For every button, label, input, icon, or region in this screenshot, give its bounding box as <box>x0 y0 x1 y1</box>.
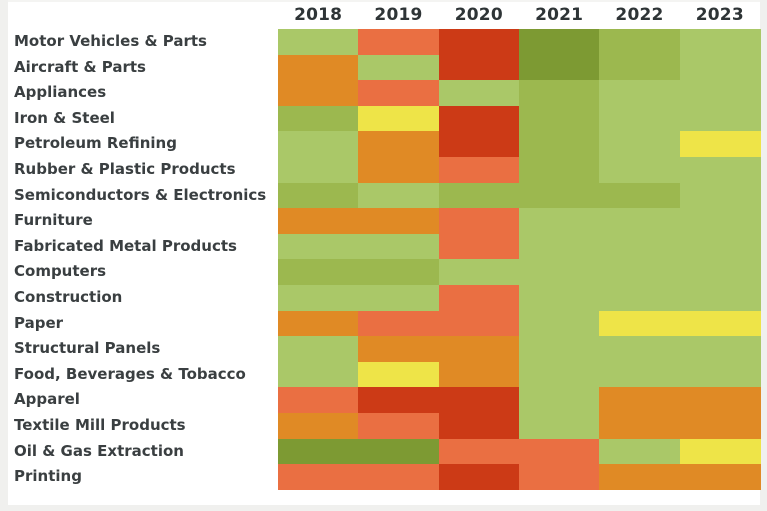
heatmap-cell[interactable] <box>358 464 439 490</box>
heatmap-cell[interactable] <box>278 131 359 157</box>
heatmap-cell[interactable] <box>680 387 761 413</box>
heatmap-cell[interactable] <box>278 183 359 209</box>
column-header-row: 201820192020202120222023 <box>8 2 760 29</box>
heatmap-cell[interactable] <box>278 234 359 260</box>
heatmap-cell[interactable] <box>358 106 439 132</box>
heatmap-cell[interactable] <box>358 387 439 413</box>
row-label: Paper <box>14 311 276 337</box>
heatmap-cell[interactable] <box>680 106 761 132</box>
heatmap-cell[interactable] <box>519 336 600 362</box>
heatmap-cell[interactable] <box>439 362 520 388</box>
row-label: Appliances <box>14 80 276 106</box>
heatmap-cell[interactable] <box>278 464 359 490</box>
heatmap-cell[interactable] <box>439 131 520 157</box>
row-label: Furniture <box>14 208 276 234</box>
heatmap-cell[interactable] <box>680 311 761 337</box>
heatmap-cell[interactable] <box>439 106 520 132</box>
heatmap-cell[interactable] <box>439 336 520 362</box>
heatmap-cell[interactable] <box>358 413 439 439</box>
heatmap-cell[interactable] <box>439 208 520 234</box>
heatmap-cell[interactable] <box>519 106 600 132</box>
column-header-2019: 2019 <box>358 2 438 29</box>
heatmap-cell[interactable] <box>519 80 600 106</box>
heatmap-cell[interactable] <box>358 183 439 209</box>
heatmap-cell[interactable] <box>278 285 359 311</box>
heatmap-cell[interactable] <box>358 131 439 157</box>
heatmap-cell[interactable] <box>680 29 761 55</box>
heatmap-cell[interactable] <box>439 413 520 439</box>
row-label: Motor Vehicles & Parts <box>14 29 276 55</box>
industry-year-heatmap: 201820192020202120222023 Motor Vehicles … <box>8 2 760 505</box>
row-label: Computers <box>14 259 276 285</box>
heatmap-cell[interactable] <box>278 208 359 234</box>
row-label: Construction <box>14 285 276 311</box>
frame-edge-right <box>760 0 767 511</box>
row-label: Aircraft & Parts <box>14 55 276 81</box>
row-label: Apparel <box>14 387 276 413</box>
heatmap-cell[interactable] <box>358 311 439 337</box>
heatmap-cell[interactable] <box>680 80 761 106</box>
heatmap-cell[interactable] <box>599 80 680 106</box>
heatmap-cell[interactable] <box>599 311 680 337</box>
heatmap-cell[interactable] <box>278 336 359 362</box>
column-header-2022: 2022 <box>599 2 679 29</box>
row-label: Printing <box>14 464 276 490</box>
heatmap-cell[interactable] <box>680 131 761 157</box>
row-label-column: Motor Vehicles & PartsAircraft & PartsAp… <box>8 29 278 495</box>
row-label: Semiconductors & Electronics <box>14 183 276 209</box>
heatmap-cell[interactable] <box>439 183 520 209</box>
heatmap-cell[interactable] <box>439 29 520 55</box>
heatmap-cell[interactable] <box>599 285 680 311</box>
heatmap-cell[interactable] <box>439 259 520 285</box>
heatmap-cell[interactable] <box>519 464 600 490</box>
row-label: Iron & Steel <box>14 106 276 132</box>
heatmap-cell[interactable] <box>519 131 600 157</box>
heatmap-page: 201820192020202120222023 Motor Vehicles … <box>0 0 767 511</box>
heatmap-cell[interactable] <box>599 259 680 285</box>
heatmap-cell[interactable] <box>680 439 761 465</box>
heatmap-cell[interactable] <box>680 157 761 183</box>
column-header-2023: 2023 <box>680 2 760 29</box>
heatmap-cell[interactable] <box>439 464 520 490</box>
row-label: Structural Panels <box>14 336 276 362</box>
heatmap-cell[interactable] <box>519 55 600 81</box>
heatmap-cell[interactable] <box>358 29 439 55</box>
heatmap-cell[interactable] <box>680 183 761 209</box>
heatmap-cell[interactable] <box>439 439 520 465</box>
heatmap-cell[interactable] <box>278 80 359 106</box>
heatmap-cell[interactable] <box>358 208 439 234</box>
heatmap-cell[interactable] <box>278 439 359 465</box>
heatmap-cell[interactable] <box>519 29 600 55</box>
heatmap-cell[interactable] <box>599 413 680 439</box>
heatmap-cell[interactable] <box>599 131 680 157</box>
heatmap-cell[interactable] <box>278 362 359 388</box>
heatmap-cell[interactable] <box>680 413 761 439</box>
heatmap-cell[interactable] <box>439 387 520 413</box>
heatmap-cell[interactable] <box>358 259 439 285</box>
heatmap-cell[interactable] <box>519 208 600 234</box>
heatmap-cell[interactable] <box>519 157 600 183</box>
heatmap-cell[interactable] <box>599 55 680 81</box>
heatmap-cell[interactable] <box>519 413 600 439</box>
heatmap-cell[interactable] <box>680 285 761 311</box>
row-label: Textile Mill Products <box>14 413 276 439</box>
heatmap-cell[interactable] <box>358 285 439 311</box>
heatmap-cell[interactable] <box>358 362 439 388</box>
column-header-2021: 2021 <box>519 2 599 29</box>
heatmap-cell[interactable] <box>680 259 761 285</box>
row-label: Fabricated Metal Products <box>14 234 276 260</box>
heatmap-cell[interactable] <box>278 259 359 285</box>
heatmap-cell[interactable] <box>599 464 680 490</box>
row-label: Food, Beverages & Tobacco <box>14 362 276 388</box>
heatmap-cell[interactable] <box>278 413 359 439</box>
heatmap-cell[interactable] <box>680 336 761 362</box>
heatmap-cell[interactable] <box>278 311 359 337</box>
heatmap-cell[interactable] <box>519 285 600 311</box>
heatmap-cell[interactable] <box>439 285 520 311</box>
heatmap-cell[interactable] <box>680 234 761 260</box>
heatmap-cell[interactable] <box>680 464 761 490</box>
heatmap-cell[interactable] <box>599 157 680 183</box>
heatmap-cell[interactable] <box>519 311 600 337</box>
heatmap-cell[interactable] <box>439 234 520 260</box>
heatmap-cell[interactable] <box>439 80 520 106</box>
heatmap-cell[interactable] <box>519 387 600 413</box>
heatmap-cell[interactable] <box>439 157 520 183</box>
heatmap-cell[interactable] <box>358 55 439 81</box>
row-label: Oil & Gas Extraction <box>14 439 276 465</box>
heatmap-cell[interactable] <box>358 234 439 260</box>
heatmap-cell[interactable] <box>599 208 680 234</box>
heatmap-cell[interactable] <box>519 259 600 285</box>
heatmap-cell[interactable] <box>680 208 761 234</box>
heatmap-cell[interactable] <box>278 387 359 413</box>
column-header-2018: 2018 <box>278 2 358 29</box>
heatmap-cell[interactable] <box>599 106 680 132</box>
heatmap-cell[interactable] <box>599 439 680 465</box>
heatmap-cell[interactable] <box>519 439 600 465</box>
heatmap-cell[interactable] <box>358 439 439 465</box>
heatmap-cell[interactable] <box>439 311 520 337</box>
column-header-2020: 2020 <box>439 2 519 29</box>
heatmap-cell[interactable] <box>599 387 680 413</box>
heatmap-cell[interactable] <box>439 55 520 81</box>
row-label: Petroleum Refining <box>14 131 276 157</box>
heatmap-cell[interactable] <box>278 106 359 132</box>
heatmap-cell[interactable] <box>358 157 439 183</box>
heatmap-cell[interactable] <box>519 362 600 388</box>
heatmap-cell[interactable] <box>680 362 761 388</box>
heatmap-cell[interactable] <box>519 234 600 260</box>
heatmap-cell[interactable] <box>278 29 359 55</box>
frame-edge-bottom <box>0 505 767 511</box>
heatmap-cell[interactable] <box>278 157 359 183</box>
heatmap-cell[interactable] <box>519 183 600 209</box>
frame-edge-left <box>0 0 8 511</box>
heatmap-cell[interactable] <box>599 336 680 362</box>
heatmap-cell[interactable] <box>599 234 680 260</box>
heatmap-cell[interactable] <box>680 55 761 81</box>
heatmap-cell[interactable] <box>358 336 439 362</box>
row-label: Rubber & Plastic Products <box>14 157 276 183</box>
heatmap-cell[interactable] <box>599 29 680 55</box>
heatmap-cell[interactable] <box>599 362 680 388</box>
heatmap-cell[interactable] <box>278 55 359 81</box>
heatmap-grid <box>278 29 760 503</box>
heatmap-cell[interactable] <box>599 183 680 209</box>
heatmap-cell[interactable] <box>358 80 439 106</box>
